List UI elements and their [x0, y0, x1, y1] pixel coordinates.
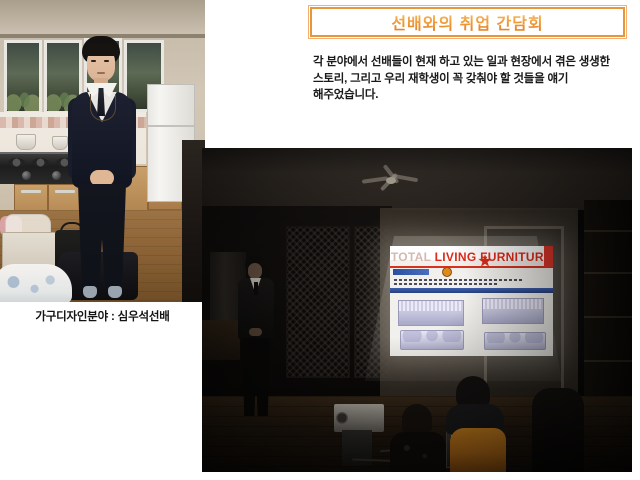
- slide-logo: [442, 267, 452, 277]
- sock: [108, 286, 122, 298]
- bed-product-image: [482, 298, 544, 324]
- shelf-line: [584, 316, 632, 318]
- eye: [91, 60, 96, 62]
- cushion-pattern: [0, 264, 72, 302]
- photo-caption: 가구디자인분야 : 심우석선배: [0, 308, 205, 324]
- window-pane: [4, 40, 42, 114]
- projected-slide: TOTAL LIVING FURNITURE: [390, 246, 553, 356]
- projected-title-bright: LIVING FURNITURE: [435, 250, 552, 264]
- projected-slide-title: TOTAL LIVING FURNITURE: [390, 250, 553, 264]
- stove-knob: [52, 171, 61, 180]
- audience-member: [390, 404, 446, 472]
- shelf-line: [584, 272, 632, 274]
- audience-member: [440, 376, 512, 472]
- slide-red-rule: [390, 266, 553, 268]
- face: [248, 263, 262, 279]
- slide-red-block: [544, 246, 553, 267]
- refrigerator-door-seam: [148, 125, 194, 127]
- eye: [104, 60, 109, 62]
- stove-burner: [8, 158, 25, 167]
- sock: [83, 286, 97, 298]
- projector-lens: [336, 412, 348, 424]
- ceiling: [0, 0, 205, 38]
- floor-cushion: [0, 264, 72, 302]
- kitchen-pot: [16, 134, 36, 150]
- slide-blue-tag: [393, 269, 429, 275]
- presentation-slide: 가구디자인분야 : 심우석선배 선배와의 취업 간담회 각 분야에서 선배들이 …: [0, 0, 640, 480]
- stove-knob: [22, 171, 31, 180]
- fan-hub: [386, 177, 396, 184]
- shelf-line: [584, 230, 632, 232]
- speaker-figure: [66, 36, 138, 302]
- speaker-in-kitchen-photo: [0, 0, 205, 302]
- body: [390, 432, 446, 472]
- kitchen-counter: [202, 320, 240, 360]
- window-foliage: [7, 74, 39, 111]
- slide-text-line: [394, 279, 524, 281]
- cabinet-handle: [21, 190, 41, 193]
- trousers: [242, 338, 270, 416]
- shelf-line: [584, 360, 632, 362]
- lanyard: [90, 94, 116, 121]
- mattress-quilt-pattern: [401, 331, 463, 342]
- hair-fringe: [83, 44, 119, 56]
- orange-jacket: [450, 428, 506, 472]
- clasped-hands: [90, 170, 114, 186]
- audience-member: [532, 388, 584, 472]
- slide-text-line: [394, 283, 498, 285]
- bed-product-image: [398, 300, 464, 326]
- body-paragraph: 각 분야에서 선배들이 현재 하고 있는 일과 현장에서 겪은 생생한 스토리,…: [313, 54, 618, 104]
- lattice-door: [286, 226, 350, 378]
- necktie: [254, 282, 258, 295]
- page-title: 선배와의 취업 간담회: [391, 10, 543, 34]
- presentation-room-photo: TOTAL LIVING FURNITURE: [202, 148, 632, 472]
- trousers: [78, 184, 126, 290]
- clasped-hands: [249, 328, 262, 336]
- shelving-unit: [584, 200, 632, 406]
- ceiling-fan: [362, 172, 420, 188]
- mouth: [97, 72, 105, 74]
- title-box: 선배와의 취업 간담회: [310, 7, 625, 37]
- mattress-product-image: [484, 332, 546, 350]
- mattress-product-image: [400, 330, 464, 350]
- mattress-quilt-pattern: [485, 333, 545, 343]
- bed-top-surface: [483, 299, 543, 309]
- projected-title-dim: TOTAL: [391, 250, 431, 264]
- presenter-figure: [236, 256, 276, 416]
- bed-top-surface: [399, 301, 463, 311]
- video-projector: [334, 404, 384, 432]
- slide-blue-band: [390, 288, 553, 293]
- stove-burner: [32, 158, 49, 167]
